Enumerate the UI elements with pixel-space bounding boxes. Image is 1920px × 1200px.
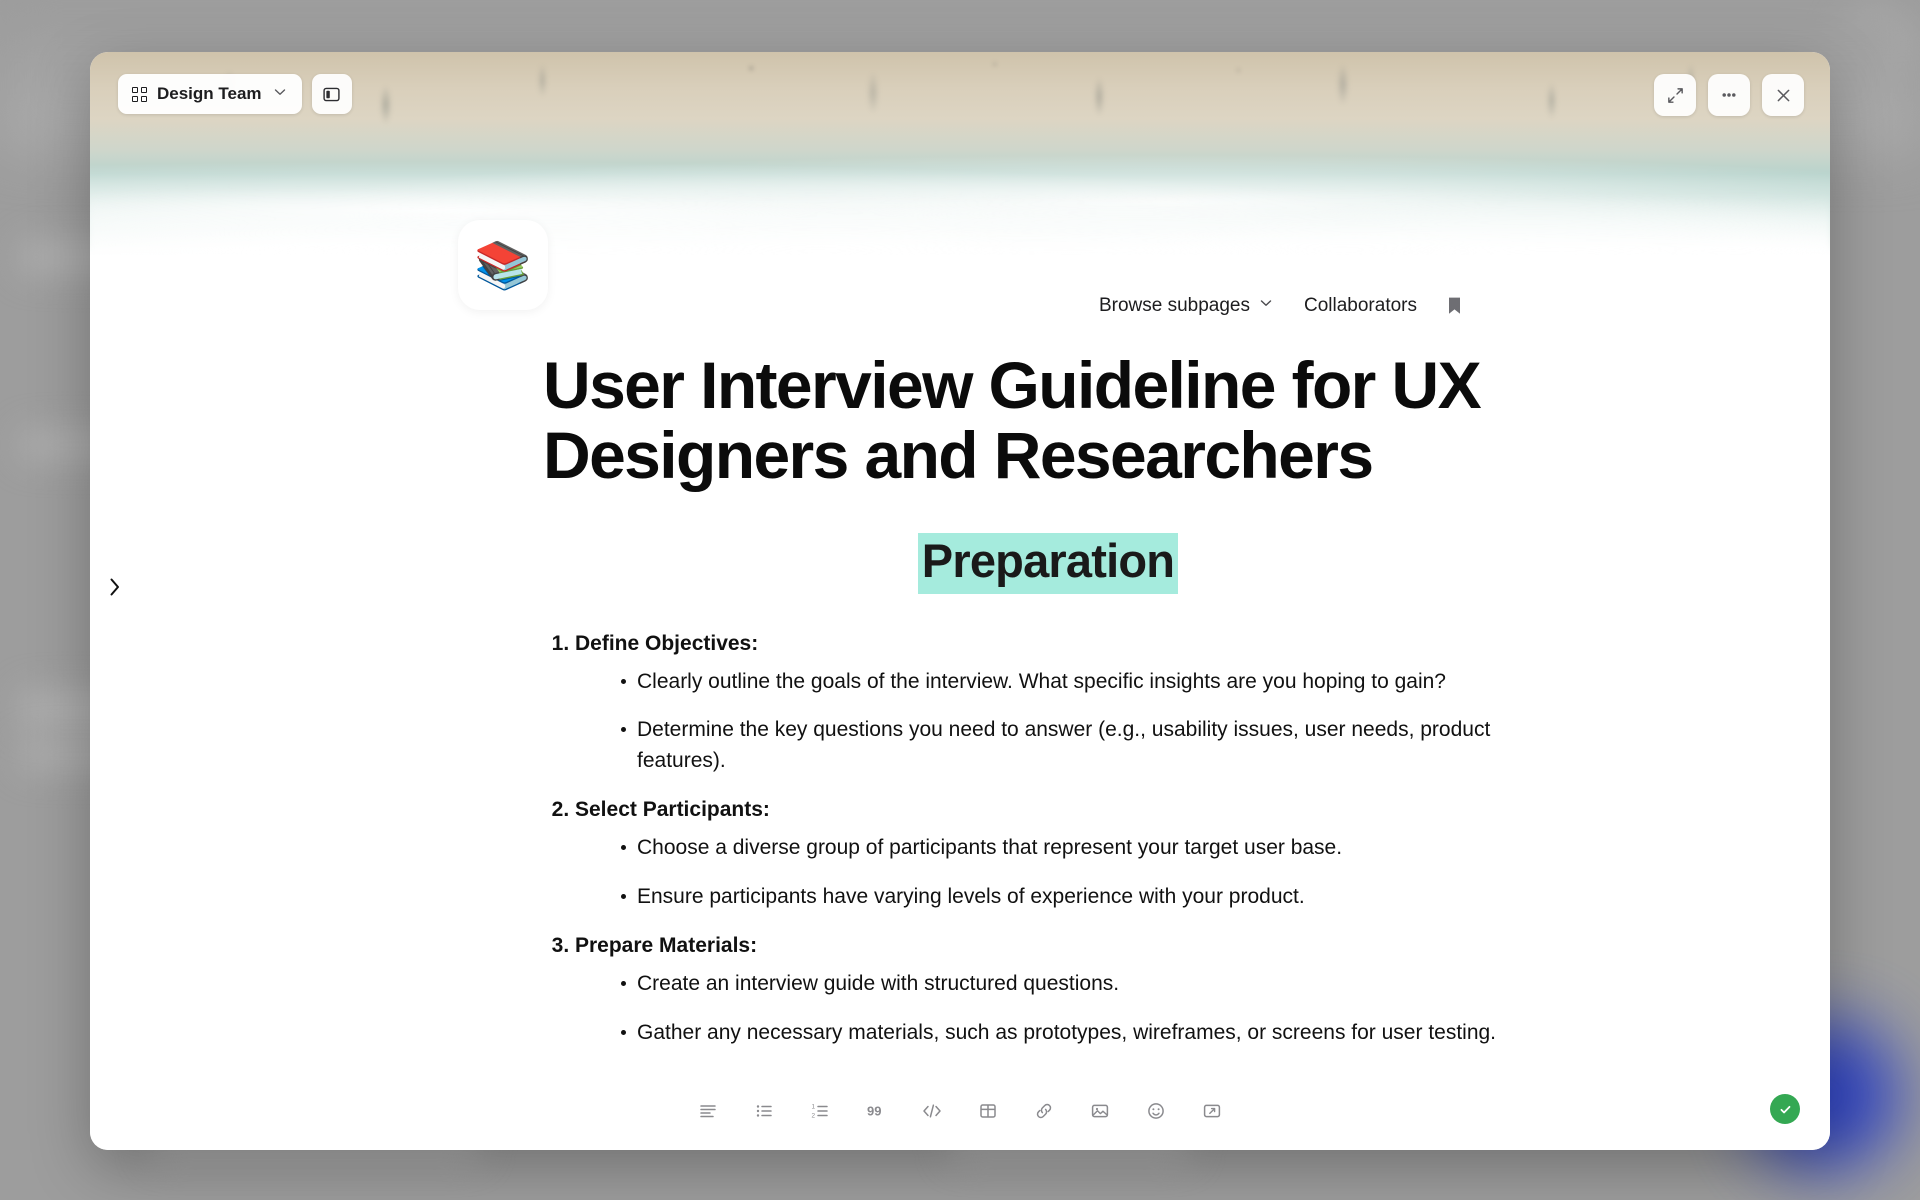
step-label: Select Participants: xyxy=(575,798,770,821)
close-button[interactable] xyxy=(1762,74,1804,116)
chevron-right-icon[interactable] xyxy=(108,575,122,603)
sub-list: Create an interview guide with structure… xyxy=(575,969,1553,1047)
list-item[interactable]: Create an interview guide with structure… xyxy=(621,969,1553,999)
browse-subpages-label: Browse subpages xyxy=(1099,295,1250,317)
browse-subpages-button[interactable]: Browse subpages xyxy=(1099,295,1274,317)
list-item[interactable]: Prepare Materials: Create an interview g… xyxy=(575,930,1553,1048)
emoji-icon[interactable] xyxy=(1141,1096,1171,1126)
workspace-label: Design Team xyxy=(157,84,262,104)
page-icon[interactable]: 📚 xyxy=(458,220,548,310)
expand-button[interactable] xyxy=(1654,74,1696,116)
check-circle-icon xyxy=(1777,1101,1794,1118)
close-x-icon xyxy=(1774,86,1793,105)
cover-left-controls: Design Team xyxy=(118,74,352,114)
expand-diagonal-icon xyxy=(1666,86,1685,105)
document-body: 📚 Browse subpages Collaborators User Int… xyxy=(90,255,1830,1150)
list-item[interactable]: Define Objectives: Clearly outline the g… xyxy=(575,628,1553,776)
cover-image-foam xyxy=(90,159,1830,255)
section-heading[interactable]: Preparation xyxy=(918,533,1178,594)
sub-list: Clearly outline the goals of the intervi… xyxy=(575,667,1553,776)
bookmark-icon xyxy=(1447,296,1462,316)
cover-right-controls xyxy=(1654,74,1804,116)
table-icon[interactable] xyxy=(973,1096,1003,1126)
workspace-selector[interactable]: Design Team xyxy=(118,74,302,114)
svg-text:2: 2 xyxy=(812,1112,816,1119)
code-icon[interactable] xyxy=(917,1096,947,1126)
cover-image: Design Team xyxy=(90,52,1830,255)
sidebar-toggle-button[interactable] xyxy=(312,74,352,114)
list-item[interactable]: Select Participants: Choose a diverse gr… xyxy=(575,794,1553,912)
more-dots-icon xyxy=(1719,85,1739,105)
chevron-down-icon xyxy=(1258,295,1274,317)
text-align-icon[interactable] xyxy=(693,1096,723,1126)
embed-icon[interactable] xyxy=(1197,1096,1227,1126)
document-modal: Design Team xyxy=(90,52,1830,1150)
steps-list: Define Objectives: Clearly outline the g… xyxy=(543,628,1553,1048)
step-label: Prepare Materials: xyxy=(575,934,757,957)
bullet-list-icon[interactable] xyxy=(749,1096,779,1126)
collaborators-label: Collaborators xyxy=(1304,295,1417,317)
image-icon[interactable] xyxy=(1085,1096,1115,1126)
numbered-list-icon[interactable]: 1 2 xyxy=(805,1096,835,1126)
bookmark-button[interactable] xyxy=(1447,296,1462,316)
link-icon[interactable] xyxy=(1029,1096,1059,1126)
step-label: Define Objectives: xyxy=(575,632,758,655)
svg-text:99: 99 xyxy=(867,1104,881,1119)
save-status-badge xyxy=(1770,1094,1800,1124)
list-item[interactable]: Choose a diverse group of participants t… xyxy=(621,833,1553,863)
svg-text:1: 1 xyxy=(812,1104,816,1111)
page-meta-row: Browse subpages Collaborators xyxy=(1099,295,1462,317)
sub-list: Choose a diverse group of participants t… xyxy=(575,833,1553,911)
chevron-down-icon xyxy=(272,84,288,105)
sidebar-panel-icon xyxy=(322,85,341,104)
more-options-button[interactable] xyxy=(1708,74,1750,116)
quote-icon[interactable]: 99 xyxy=(861,1096,891,1126)
grid-icon xyxy=(132,87,147,102)
section-heading-wrapper: Preparation xyxy=(543,533,1553,594)
list-item[interactable]: Gather any necessary materials, such as … xyxy=(621,1018,1553,1048)
list-item[interactable]: Determine the key questions you need to … xyxy=(621,715,1553,775)
list-item[interactable]: Ensure participants have varying levels … xyxy=(621,882,1553,912)
editor-toolbar: 1 2 99 xyxy=(90,1096,1830,1126)
list-item[interactable]: Clearly outline the goals of the intervi… xyxy=(621,667,1553,697)
collaborators-button[interactable]: Collaborators xyxy=(1304,295,1417,317)
page-title[interactable]: User Interview Guideline for UX Designer… xyxy=(543,351,1553,491)
document-content: User Interview Guideline for UX Designer… xyxy=(543,351,1553,1066)
